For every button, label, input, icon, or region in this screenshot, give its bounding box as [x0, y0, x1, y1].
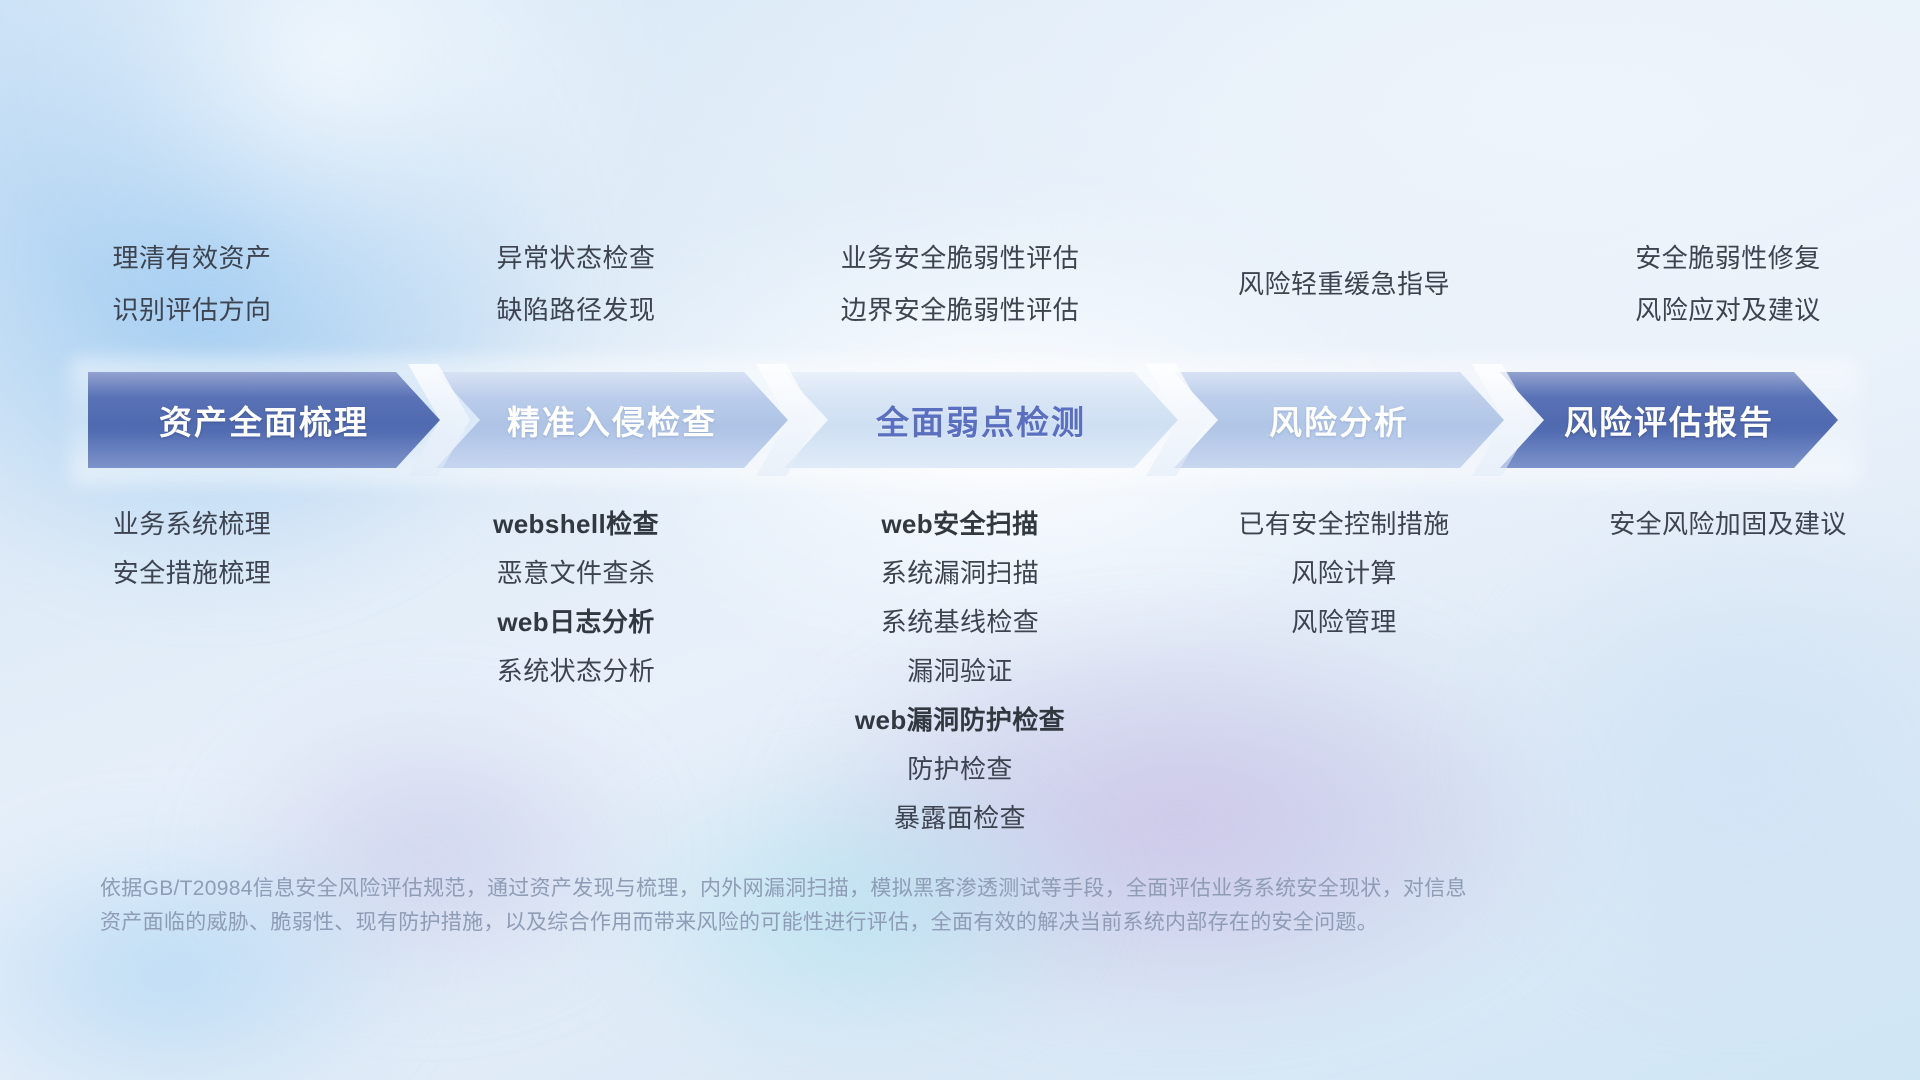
- top-item: 理清有效资产: [112, 232, 271, 284]
- detail-item: 已有安全控制措施: [1238, 500, 1449, 549]
- bottom-detail-row: 业务系统梳理 安全措施梳理 webshell检查 恶意文件查杀 web日志分析 …: [0, 500, 1920, 843]
- stage-arrow-label: 全面弱点检测: [876, 396, 1086, 444]
- detail-item: 系统基线检查: [881, 598, 1039, 647]
- bottom-column-weakness-detection: web安全扫描 系统漏洞扫描 系统基线检查 漏洞验证 web漏洞防护检查 防护检…: [768, 500, 1152, 843]
- stage-arrow-asset-inventory[interactable]: 资产全面梳理: [88, 372, 440, 468]
- detail-item: 风险计算: [1291, 549, 1397, 598]
- stage-arrow-risk-analysis[interactable]: 风险分析: [1174, 372, 1504, 468]
- top-item: 风险应对及建议: [1635, 284, 1821, 336]
- top-item: 风险轻重缓急指导: [1238, 232, 1450, 336]
- footer-line-2: 资产面临的威胁、脆弱性、现有防护措施，以及综合作用而带来风险的可能性进行评估，全…: [100, 906, 1800, 940]
- top-item: 缺陷路径发现: [496, 284, 655, 336]
- stage-arrow-risk-report[interactable]: 风险评估报告: [1500, 372, 1838, 468]
- detail-item: 防护检查: [907, 745, 1013, 794]
- detail-item: webshell检查: [493, 500, 659, 549]
- detail-item: 安全措施梳理: [113, 549, 271, 598]
- bottom-column-asset-inventory: 业务系统梳理 安全措施梳理: [0, 500, 384, 598]
- top-item: 异常状态检查: [496, 232, 655, 284]
- detail-item: 系统状态分析: [497, 647, 655, 696]
- bottom-column-risk-report: 安全风险加固及建议: [1536, 500, 1920, 549]
- footer-description: 依据GB/T20984信息安全风险评估规范，通过资产发现与梳理，内外网漏洞扫描，…: [100, 872, 1800, 940]
- stage-arrow-weakness-detection[interactable]: 全面弱点检测: [784, 372, 1178, 468]
- top-item: 业务安全脆弱性评估: [841, 232, 1080, 284]
- stage-arrow-label: 风险评估报告: [1564, 396, 1774, 444]
- top-item: 安全脆弱性修复: [1635, 232, 1821, 284]
- top-column-intrusion-check: 异常状态检查 缺陷路径发现: [384, 232, 768, 362]
- stage-arrow-intrusion-check[interactable]: 精准入侵检查: [436, 372, 788, 468]
- bottom-column-intrusion-check: webshell检查 恶意文件查杀 web日志分析 系统状态分析: [384, 500, 768, 696]
- detail-item: web安全扫描: [881, 500, 1038, 549]
- stage-arrow-label: 风险分析: [1269, 396, 1409, 444]
- top-column-risk-analysis: 风险轻重缓急指导: [1152, 232, 1536, 362]
- top-item: 边界安全脆弱性评估: [841, 284, 1080, 336]
- detail-item: web日志分析: [497, 598, 654, 647]
- detail-item: 风险管理: [1291, 598, 1397, 647]
- detail-item: 业务系统梳理: [113, 500, 271, 549]
- footer-line-1: 依据GB/T20984信息安全风险评估规范，通过资产发现与梳理，内外网漏洞扫描，…: [100, 872, 1800, 906]
- stage-arrow-ribbon: 资产全面梳理 精准入侵检查 全面弱点检测 风险分析 风险评估报告: [88, 372, 1838, 468]
- detail-item: web漏洞防护检查: [855, 696, 1065, 745]
- detail-item: 暴露面检查: [894, 794, 1026, 843]
- top-item: 识别评估方向: [112, 284, 271, 336]
- top-descriptor-row: 理清有效资产 识别评估方向 异常状态检查 缺陷路径发现 业务安全脆弱性评估 边界…: [0, 232, 1920, 362]
- stage-arrow-label: 精准入侵检查: [507, 396, 717, 444]
- top-column-asset-inventory: 理清有效资产 识别评估方向: [0, 232, 384, 362]
- detail-item: 安全风险加固及建议: [1609, 500, 1847, 549]
- bottom-column-risk-analysis: 已有安全控制措施 风险计算 风险管理: [1152, 500, 1536, 647]
- detail-item: 恶意文件查杀: [497, 549, 655, 598]
- top-column-risk-report: 安全脆弱性修复 风险应对及建议: [1536, 232, 1920, 362]
- process-diagram: 理清有效资产 识别评估方向 异常状态检查 缺陷路径发现 业务安全脆弱性评估 边界…: [0, 0, 1920, 1080]
- stage-arrow-label: 资产全面梳理: [159, 396, 369, 444]
- top-column-weakness-detection: 业务安全脆弱性评估 边界安全脆弱性评估: [768, 232, 1152, 362]
- detail-item: 漏洞验证: [907, 647, 1013, 696]
- detail-item: 系统漏洞扫描: [881, 549, 1039, 598]
